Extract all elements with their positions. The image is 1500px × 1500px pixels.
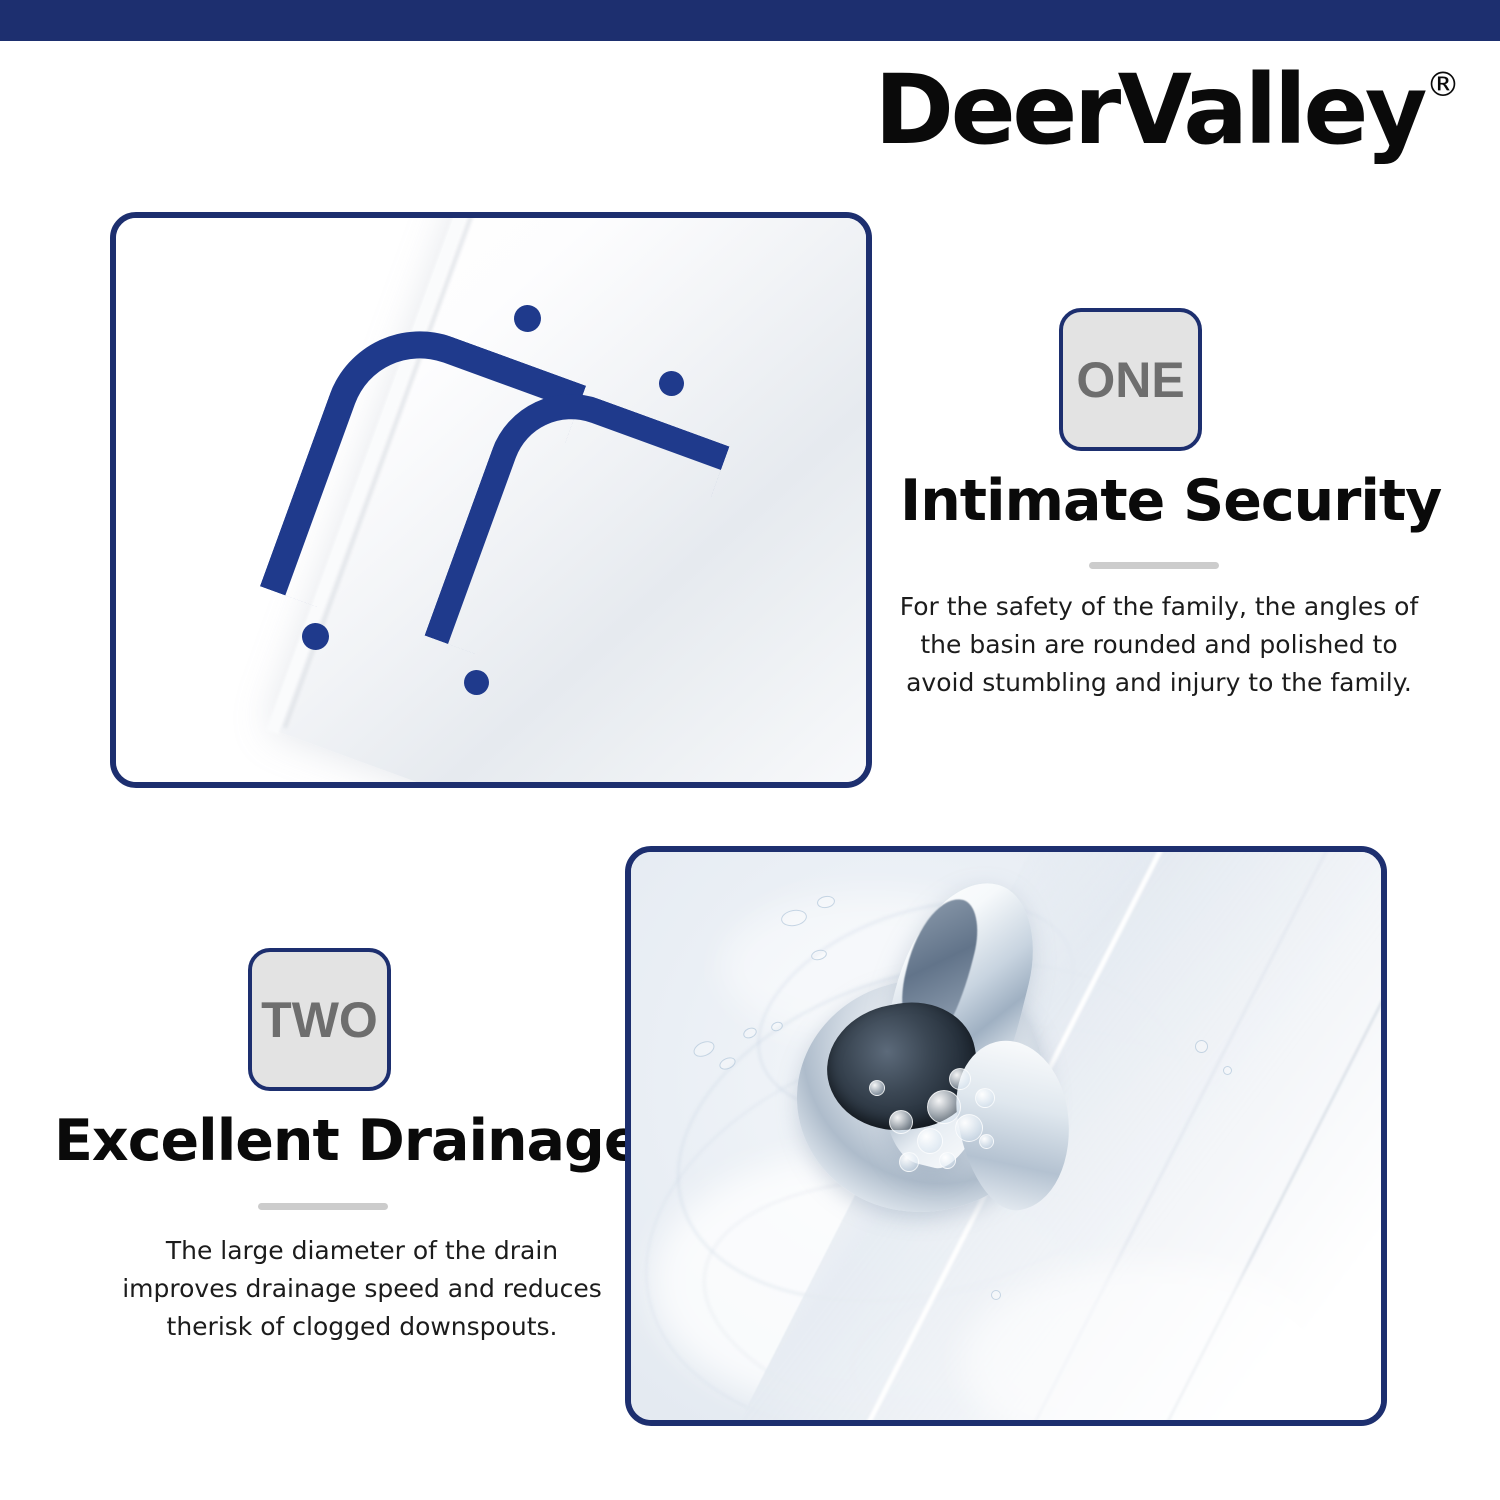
basin-corner-photograph	[116, 218, 866, 782]
feature-badge-two: TWO	[248, 948, 391, 1091]
bubble-8	[939, 1152, 956, 1169]
feature-divider-one	[1089, 562, 1219, 569]
drain-photograph	[631, 852, 1381, 1420]
feature-image-drain	[625, 846, 1387, 1426]
brand-logo: DeerValley ®	[874, 62, 1460, 158]
feature-headline-one: Intimate Security	[900, 468, 1441, 534]
bubble-7	[899, 1152, 919, 1172]
feature-body-one: For the safety of the family, the angles…	[888, 588, 1430, 702]
bubble-6	[975, 1088, 995, 1108]
bubble-4	[949, 1068, 971, 1090]
feature-badge-one: ONE	[1059, 308, 1202, 451]
micro-bubble-9	[991, 1290, 1001, 1300]
registered-trademark-icon: ®	[1426, 68, 1460, 102]
bubble-10	[979, 1134, 994, 1149]
micro-bubble-7	[1195, 1040, 1208, 1053]
feature-body-two: The large diameter of the drain improves…	[105, 1232, 619, 1346]
top-navy-bar	[0, 0, 1500, 41]
micro-bubble-3	[742, 1026, 759, 1041]
product-feature-page: DeerValley ® ONE Intimate Security For t…	[0, 0, 1500, 1500]
micro-bubble-1	[691, 1038, 717, 1060]
feature-image-basin-corner	[110, 212, 872, 788]
micro-bubble-8	[1223, 1066, 1232, 1075]
feature-divider-two	[258, 1203, 388, 1210]
bubble-1	[927, 1090, 961, 1124]
bubble-5	[889, 1110, 913, 1134]
feature-headline-two: Excellent Drainage	[54, 1108, 642, 1174]
brand-name: DeerValley	[874, 62, 1424, 158]
bubble-3	[917, 1128, 943, 1154]
bubble-9	[869, 1080, 885, 1096]
